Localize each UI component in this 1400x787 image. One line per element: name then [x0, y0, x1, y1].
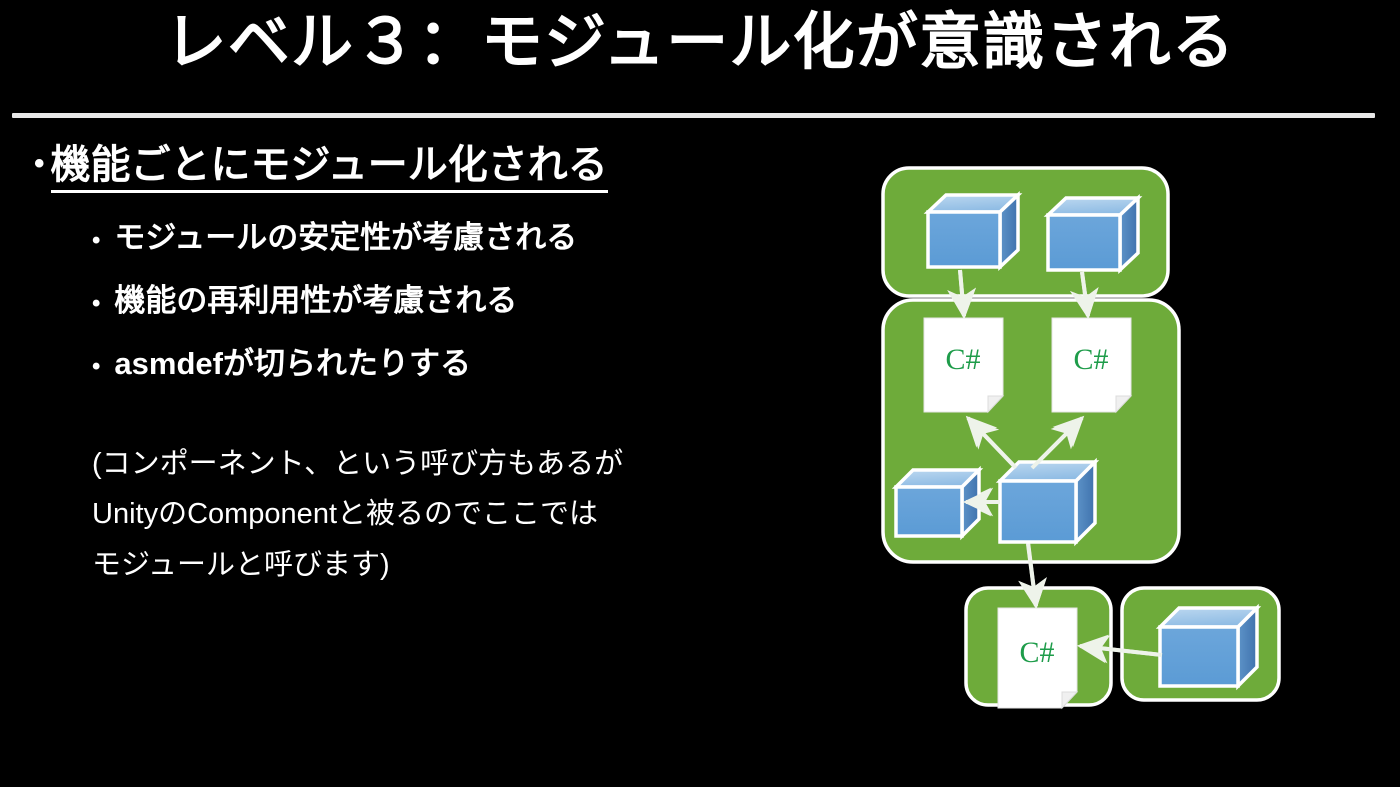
- module-dependency-diagram: C# C# C#: [860, 150, 1400, 730]
- doc-mid-left[interactable]: C#: [924, 318, 1003, 412]
- list-item-label: モジュールの安定性が考慮される: [114, 219, 577, 256]
- main-bullet: • 機能ごとにモジュール化される: [34, 142, 844, 193]
- cube-mid-center[interactable]: [1000, 462, 1095, 542]
- doc-bottom-label: C#: [1019, 636, 1054, 669]
- content-column: • 機能ごとにモジュール化される • モジュールの安定性が考慮される • 機能の…: [34, 142, 844, 591]
- page-title: レベル３：モジュール化が意識される: [0, 4, 1400, 82]
- note-line: モジュールと呼びます): [92, 540, 844, 591]
- bullet-marker-icon: •: [34, 142, 45, 186]
- main-bullet-label: 機能ごとにモジュール化される: [51, 142, 608, 193]
- doc-mid-left-label: C#: [945, 343, 980, 376]
- bullet-marker-icon: •: [92, 290, 100, 319]
- note-line: (コンポーネント、という呼び方もあるが: [92, 439, 844, 490]
- title-divider: [12, 113, 1375, 118]
- cube-top-right[interactable]: [1048, 198, 1138, 270]
- list-item-label: 機能の再利用性が考慮される: [114, 282, 517, 319]
- cube-bottom-right[interactable]: [1160, 608, 1257, 686]
- note-line: UnityのComponentと被るのでここでは: [92, 489, 844, 540]
- doc-mid-right-label: C#: [1073, 343, 1108, 376]
- list-item: • モジュールの安定性が考慮される: [92, 219, 844, 256]
- bullet-marker-icon: •: [92, 353, 100, 382]
- note-paragraph: (コンポーネント、という呼び方もあるが UnityのComponentと被るので…: [34, 439, 844, 591]
- list-item-label: asmdefが切られたりする: [114, 345, 471, 382]
- doc-mid-right[interactable]: C#: [1052, 318, 1131, 412]
- bullet-marker-icon: •: [92, 227, 100, 256]
- sub-bullet-list: • モジュールの安定性が考慮される • 機能の再利用性が考慮される • asmd…: [34, 219, 844, 383]
- list-item: • 機能の再利用性が考慮される: [92, 282, 844, 319]
- list-item: • asmdefが切られたりする: [92, 345, 844, 382]
- cube-top-left[interactable]: [928, 195, 1018, 267]
- doc-bottom[interactable]: C#: [998, 608, 1077, 708]
